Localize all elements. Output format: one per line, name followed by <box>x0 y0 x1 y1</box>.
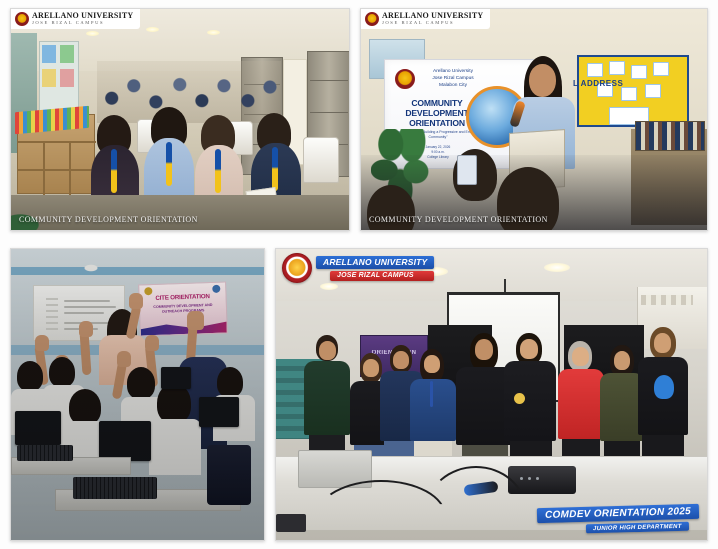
notice-sheet <box>42 45 56 63</box>
caption-secondary: JUNIOR HIGH DEPARTMENT <box>586 522 689 534</box>
binders-row <box>635 121 705 151</box>
logo-patch <box>514 393 525 404</box>
photo-4-scene: ORIENTATION <box>276 249 707 540</box>
ceiling-lamp-icon <box>146 27 159 32</box>
ceiling-lamp-icon <box>86 31 99 36</box>
watermark-university: ARELLANO UNIVERSITY <box>32 12 133 20</box>
university-seal-icon <box>395 69 415 89</box>
shirt-graphic <box>654 375 674 399</box>
watermark-logo: ARELLANO UNIVERSITY JOSE RIZAL CAMPUS <box>282 253 434 283</box>
speaker-head <box>529 64 556 97</box>
library-floor <box>11 195 349 230</box>
photo-caption: COMMUNITY DEVELOPMENT ORIENTATION <box>369 215 548 224</box>
seated-audience <box>97 61 281 123</box>
ceiling-lamp-icon <box>207 30 220 35</box>
watermark-logo: ARELLANO UNIVERSITY JOSE RIZAL CAMPUS <box>361 9 490 29</box>
watermark-university: ARELLANO UNIVERSITY <box>382 12 483 20</box>
photo-library-officials[interactable]: ARELLANO UNIVERSITY JOSE RIZAL CAMPUS CO… <box>10 8 350 231</box>
notice-sheet <box>60 69 74 87</box>
bulletin-board-text: L ADDRESS <box>573 79 623 88</box>
photo-1-scene <box>11 9 349 230</box>
photo-caption: COMDEV ORIENTATION 2025 JUNIOR HIGH DEPA… <box>537 506 699 532</box>
watermark-university: ARELLANO UNIVERSITY <box>316 256 434 269</box>
photo-collage: ARELLANO UNIVERSITY JOSE RIZAL CAMPUS CO… <box>0 0 718 549</box>
watermark-campus: JOSE RIZAL CAMPUS <box>32 21 133 26</box>
phone-icon <box>457 155 477 185</box>
watermark-campus: JOSE RIZAL CAMPUS <box>382 21 483 26</box>
notice-sheet <box>42 69 56 87</box>
photo-computer-lab[interactable]: CITE ORIENTATION COMMUNITY DEVELOPMENT A… <box>10 248 265 541</box>
tarpaulin-university: Arellano University Jose Rizal Campus Ma… <box>421 69 485 90</box>
photo-group-comdev[interactable]: ORIENTATION <box>275 248 708 541</box>
bulletin-board: L ADDRESS <box>577 55 689 127</box>
monobloc-chair <box>303 137 339 183</box>
photo-2-scene: L ADDRESS Arellano University Jose Rizal… <box>361 9 707 230</box>
university-seal-icon <box>365 12 379 26</box>
photo-speaker-podium[interactable]: L ADDRESS Arellano University Jose Rizal… <box>360 8 708 231</box>
window-louvers <box>641 295 693 305</box>
ceiling-light-icon <box>544 263 570 272</box>
ceiling-light-icon <box>320 283 338 290</box>
screen-pole <box>504 279 506 293</box>
photo-caption: COMMUNITY DEVELOPMENT ORIENTATION <box>19 215 198 224</box>
university-seal-icon <box>282 253 312 283</box>
watermark-campus: JOSE RIZAL CAMPUS <box>330 271 434 281</box>
power-strip <box>276 514 306 532</box>
photo-3-scene: CITE ORIENTATION COMMUNITY DEVELOPMENT A… <box>11 249 264 540</box>
university-seal-icon <box>15 12 29 26</box>
watermark-logo: ARELLANO UNIVERSITY JOSE RIZAL CAMPUS <box>11 9 140 29</box>
caption-primary: COMDEV ORIENTATION 2025 <box>537 504 699 523</box>
notice-sheet <box>60 45 74 63</box>
photo-vignette <box>11 249 264 540</box>
